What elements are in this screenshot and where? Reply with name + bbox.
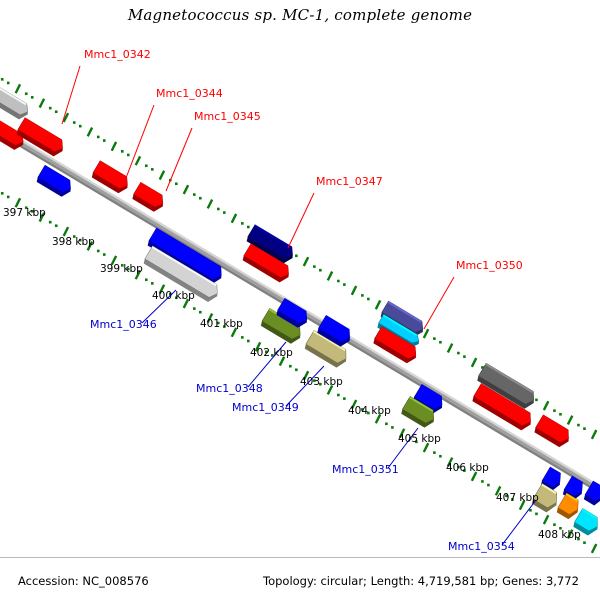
tick-label-402-kbp: 402 kbp xyxy=(250,347,293,359)
gc-dash xyxy=(64,227,68,236)
gc-dash xyxy=(160,171,164,180)
gc-dot xyxy=(223,211,226,214)
gene-label-Mmc1_0342[interactable]: Mmc1_0342 xyxy=(84,48,151,61)
gene-gray-01[interactable] xyxy=(0,83,32,122)
gene-label-Mmc1_0345[interactable]: Mmc1_0345 xyxy=(194,110,261,123)
gc-dot xyxy=(337,280,340,283)
gc-dot xyxy=(487,484,490,487)
gene-label-Mmc1_0354[interactable]: Mmc1_0354 xyxy=(448,540,515,553)
gc-dash xyxy=(16,198,20,207)
gc-dot xyxy=(343,397,346,400)
gc-dot xyxy=(199,197,202,200)
gc-dot xyxy=(463,355,466,358)
gc-dot xyxy=(145,278,148,281)
gc-dot xyxy=(319,269,322,272)
gc-dot xyxy=(49,107,52,110)
gene-label-Mmc1_0346[interactable]: Mmc1_0346 xyxy=(90,318,157,331)
gc-dot xyxy=(391,426,394,429)
gc-dot xyxy=(31,96,34,99)
gc-dash xyxy=(424,329,428,338)
gene-label-Mmc1_0347[interactable]: Mmc1_0347 xyxy=(316,175,383,188)
gc-dot xyxy=(241,336,244,339)
leader-line-Mmc1_0350 xyxy=(424,277,454,329)
tick-label-405-kbp: 405 kbp xyxy=(398,433,441,445)
gc-dot xyxy=(553,523,556,526)
gc-dot xyxy=(199,311,202,314)
tick-label-408-kbp: 408 kbp xyxy=(538,529,581,541)
gc-dot xyxy=(193,307,196,310)
gc-dash xyxy=(472,358,476,367)
gc-dot xyxy=(97,136,100,139)
gc-dot xyxy=(247,340,250,343)
gc-dot xyxy=(433,451,436,454)
tick-label-403-kbp: 403 kbp xyxy=(300,376,343,388)
gc-dot xyxy=(151,168,154,171)
gc-dash xyxy=(136,156,140,165)
gc-dot xyxy=(175,182,178,185)
gc-dash xyxy=(592,544,596,553)
gc-dash xyxy=(544,401,548,410)
gc-dot xyxy=(337,394,340,397)
gc-dot xyxy=(79,125,82,128)
gene-red-22[interactable] xyxy=(533,415,573,450)
gc-dot xyxy=(535,399,538,402)
gc-dash xyxy=(592,430,596,439)
gene-label-Mmc1_0344[interactable]: Mmc1_0344 xyxy=(156,87,223,100)
gc-dot xyxy=(295,255,298,258)
gc-dot xyxy=(433,337,436,340)
tick-label-397-kbp: 397 kbp xyxy=(3,207,46,219)
gc-dot xyxy=(289,365,292,368)
gc-dot xyxy=(151,282,154,285)
gc-dot xyxy=(385,423,388,426)
gc-dot xyxy=(1,78,4,81)
gc-dot xyxy=(55,224,58,227)
leader-line-Mmc1_0354 xyxy=(502,500,536,545)
gc-dash xyxy=(568,416,572,425)
gc-dash xyxy=(304,257,308,266)
gene-label-Mmc1_0351[interactable]: Mmc1_0351 xyxy=(332,463,399,476)
tick-label-404-kbp: 404 kbp xyxy=(348,405,391,417)
gc-dot xyxy=(577,424,580,427)
gc-dot xyxy=(553,409,556,412)
gc-dot xyxy=(559,413,562,416)
gene-glyph-layer[interactable] xyxy=(0,83,600,538)
gc-dash xyxy=(208,200,212,209)
gc-dot xyxy=(1,192,4,195)
gc-dot xyxy=(103,139,106,142)
gene-top-face xyxy=(0,83,31,118)
gc-dot xyxy=(481,480,484,483)
gc-dot xyxy=(343,283,346,286)
gc-dot xyxy=(247,226,250,229)
gc-dot xyxy=(457,352,460,355)
gc-dot xyxy=(121,150,124,153)
gc-dash xyxy=(544,515,548,524)
gc-dot xyxy=(439,455,442,458)
tick-label-401-kbp: 401 kbp xyxy=(200,318,243,330)
accession-text: Accession: NC_008576 xyxy=(18,574,149,588)
gc-dot xyxy=(103,253,106,256)
tick-label-407-kbp: 407 kbp xyxy=(496,492,539,504)
gc-dot xyxy=(25,92,28,95)
gc-dash xyxy=(328,272,332,281)
leader-line-Mmc1_0345 xyxy=(166,128,192,191)
gc-dash xyxy=(448,344,452,353)
gc-dash xyxy=(112,142,116,151)
gene-label-Mmc1_0350[interactable]: Mmc1_0350 xyxy=(456,259,523,272)
tick-label-400-kbp: 400 kbp xyxy=(152,290,195,302)
gc-dot xyxy=(217,208,220,211)
gc-dot xyxy=(55,110,58,113)
gc-dot xyxy=(145,164,148,167)
gc-dot xyxy=(241,222,244,225)
genome-map-canvas[interactable]: 397 kbp398 kbp399 kbp400 kbp401 kbp402 k… xyxy=(0,0,600,600)
gc-dot xyxy=(295,369,298,372)
gc-dot xyxy=(193,193,196,196)
gc-dot xyxy=(313,265,316,268)
topology-text: Topology: circular; Length: 4,719,581 bp… xyxy=(263,574,579,588)
gc-dot xyxy=(97,250,100,253)
gc-dash xyxy=(376,300,380,309)
gc-dot xyxy=(361,294,364,297)
gc-dash xyxy=(40,99,44,108)
leader-line-Mmc1_0347 xyxy=(288,193,314,248)
gene-label-Mmc1_0349[interactable]: Mmc1_0349 xyxy=(232,401,299,414)
gc-dot xyxy=(583,427,586,430)
leader-line-Mmc1_0342 xyxy=(62,66,80,124)
gc-dot xyxy=(7,82,10,85)
gc-dash xyxy=(88,128,92,137)
gc-dot xyxy=(535,513,538,516)
gc-dot xyxy=(49,221,52,224)
gene-label-Mmc1_0348[interactable]: Mmc1_0348 xyxy=(196,382,263,395)
tick-label-399-kbp: 399 kbp xyxy=(100,263,143,275)
genome-map-viewer: Magnetococcus sp. MC-1, complete genome … xyxy=(0,0,600,600)
gc-dash xyxy=(352,286,356,295)
gc-dot xyxy=(127,154,130,157)
gc-dot xyxy=(583,541,586,544)
gc-dash xyxy=(232,214,236,223)
gc-dot xyxy=(367,298,370,301)
gc-dot xyxy=(73,121,76,124)
gene-name-labels[interactable]: Mmc1_0342Mmc1_0344Mmc1_0345Mmc1_0347Mmc1… xyxy=(84,48,523,553)
footer-divider xyxy=(0,557,600,558)
gc-dot xyxy=(7,196,10,199)
gc-dash xyxy=(184,185,188,194)
leader-line-Mmc1_0344 xyxy=(126,105,154,178)
gc-dash xyxy=(16,84,20,93)
tick-label-398-kbp: 398 kbp xyxy=(52,236,95,248)
tick-label-406-kbp: 406 kbp xyxy=(446,462,489,474)
gc-dot xyxy=(439,341,442,344)
